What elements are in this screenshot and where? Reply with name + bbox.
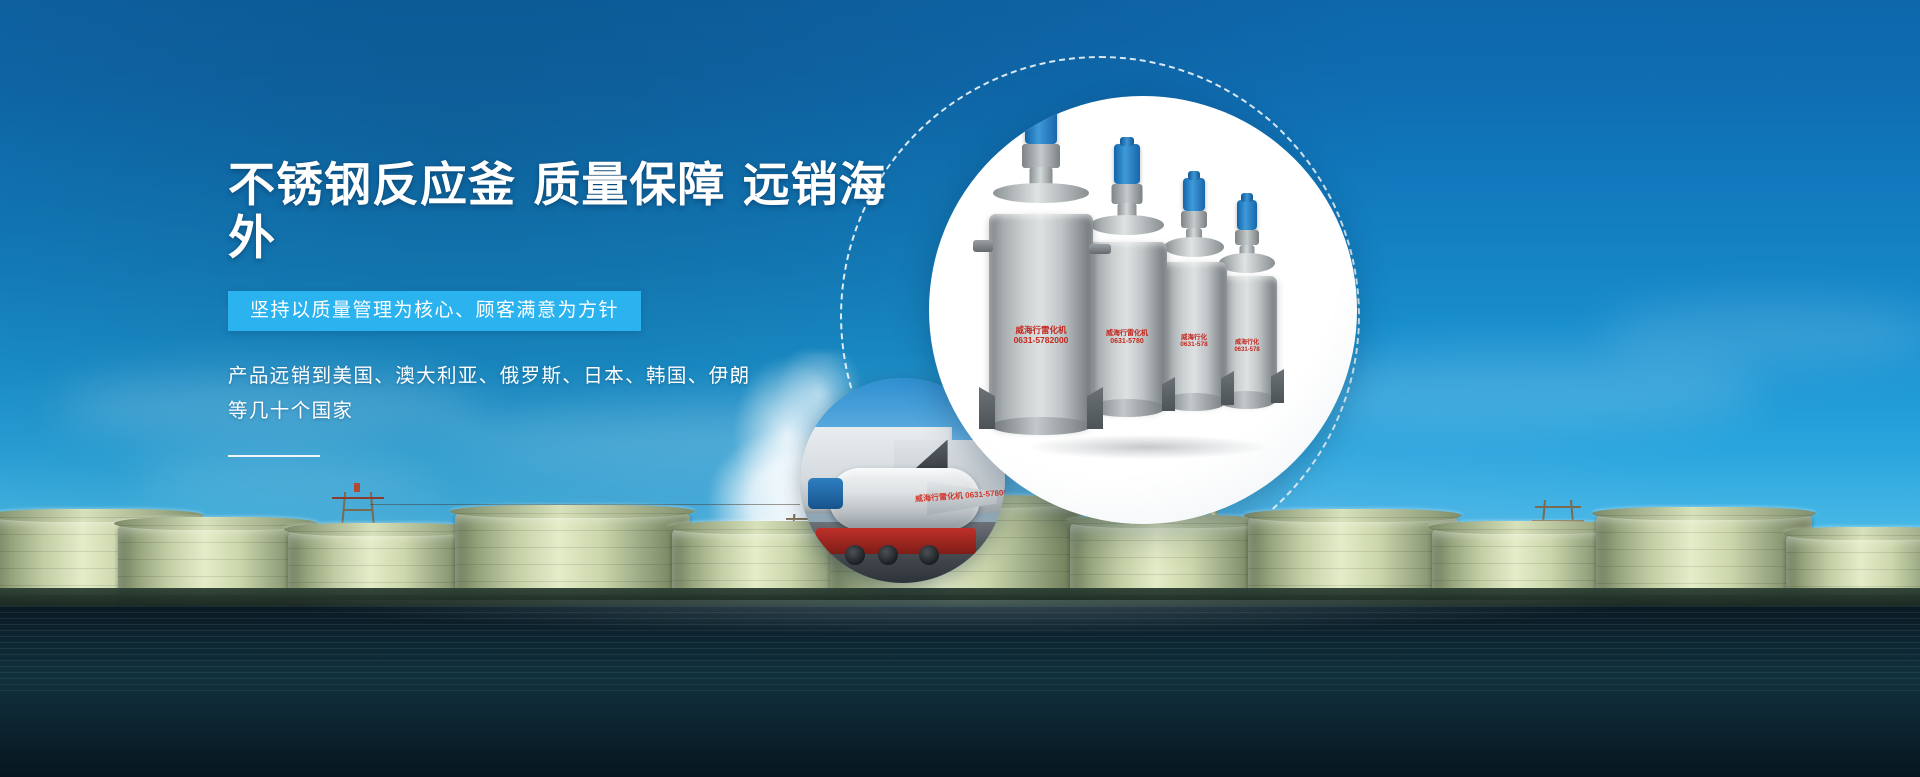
paragraph-line-2: 等几十个国家	[228, 394, 908, 429]
banner-copy: 不锈钢反应釜 质量保障 远销海外 坚持以质量管理为核心、顾客满意为方针 产品远销…	[228, 160, 908, 457]
vessel-head	[993, 183, 1089, 203]
banner-headline: 不锈钢反应釜 质量保障 远销海外	[228, 160, 908, 265]
underline-rule	[228, 455, 320, 457]
water-reflection	[0, 606, 1920, 696]
trailer-wheel	[845, 545, 865, 565]
gearbox	[1112, 184, 1143, 204]
brand-label: 威海行化 0631-578	[1180, 334, 1207, 349]
vessel-head	[1090, 215, 1164, 235]
agitator-motor	[1114, 144, 1140, 184]
brand-label: 威海行化 0631-578	[1234, 340, 1259, 354]
product-shadow	[980, 430, 1314, 464]
paragraph-line-1: 产品远销到美国、澳大利亚、俄罗斯、日本、韩国、伊朗	[228, 359, 908, 394]
gearbox	[1235, 230, 1259, 245]
agitator-motor	[1025, 96, 1057, 144]
vessel-base	[991, 417, 1091, 435]
banner-paragraph: 产品远销到美国、澳大利亚、俄罗斯、日本、韩国、伊朗 等几十个国家	[228, 359, 908, 428]
gearbox	[1022, 144, 1060, 168]
gearbox	[1181, 211, 1207, 228]
trailer-wheel	[878, 545, 898, 565]
trailer-wheel	[919, 545, 939, 565]
agitator-motor	[1237, 200, 1257, 230]
banner-ribbon: 坚持以质量管理为核心、顾客满意为方针	[228, 291, 641, 331]
product-photo-circle[interactable]: 威海行化 0631-578 威海行化 0631-578	[929, 96, 1357, 524]
reactor-vessel: 威海行雷化机 0631-5782000	[989, 192, 1093, 428]
brand-label: 威海行雷化机 0631-5780	[1106, 330, 1148, 346]
vessel-body	[1087, 242, 1167, 410]
side-nozzle	[1089, 244, 1111, 254]
side-nozzle	[973, 240, 993, 252]
hero-banner: 威海行雷化机 0631-5780002 威海行化 0631-578	[0, 0, 1920, 777]
vessel-head	[1164, 237, 1225, 257]
cloud	[1600, 300, 1920, 370]
vessel-motor	[808, 478, 843, 509]
vessel-head	[1219, 253, 1274, 273]
agitator-motor	[1183, 178, 1205, 211]
vessel-body	[989, 214, 1093, 428]
brand-label: 威海行雷化机 0631-5782000	[1014, 326, 1069, 346]
